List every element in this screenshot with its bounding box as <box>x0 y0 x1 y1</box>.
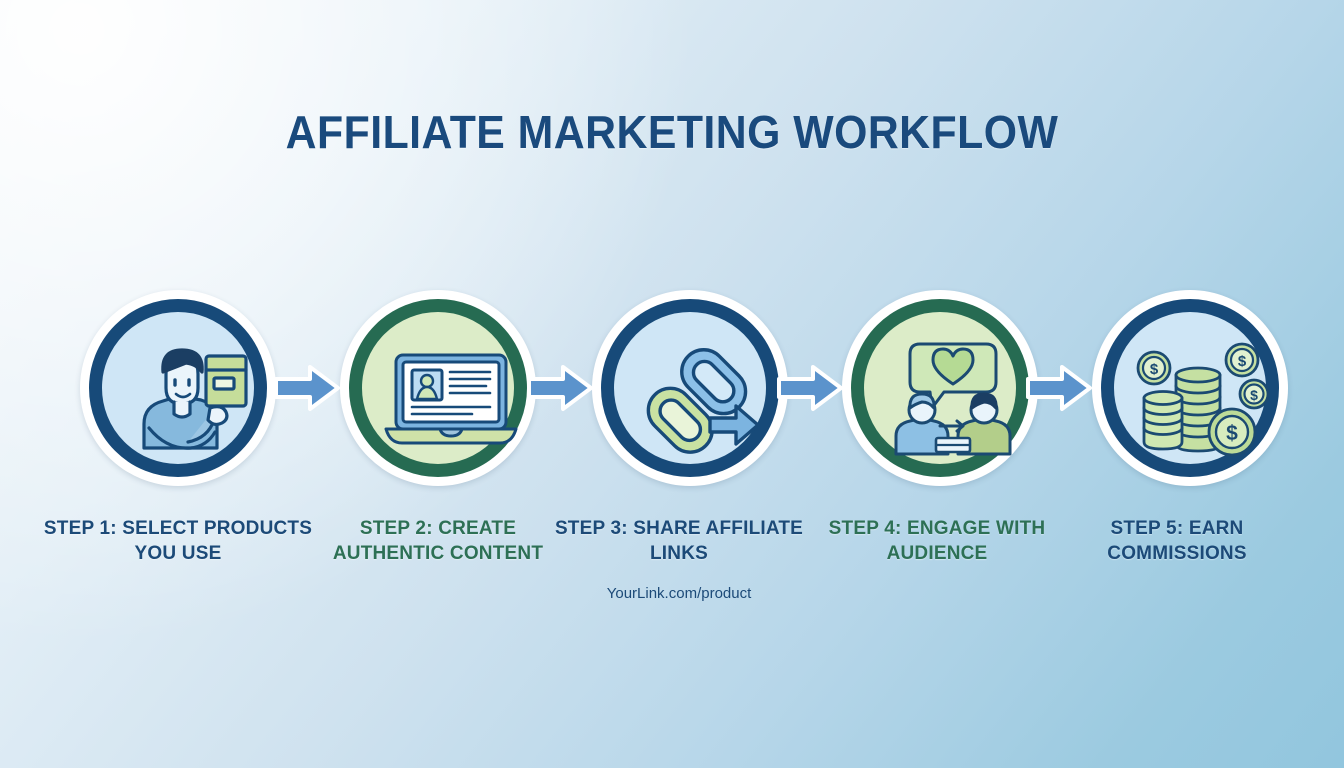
circle-ring-navy: $ $ $ $ <box>1101 299 1279 477</box>
arrow-right-icon <box>777 362 843 414</box>
svg-text:$: $ <box>1226 422 1238 445</box>
circle-ring-green <box>349 299 527 477</box>
svg-text:$: $ <box>1150 361 1159 378</box>
step-3-circle[interactable] <box>590 288 790 488</box>
step-5-circle[interactable]: $ $ $ $ <box>1090 288 1290 488</box>
step-1-circle[interactable] <box>78 288 278 488</box>
step-4-circle[interactable] <box>840 288 1040 488</box>
circle-ring-navy <box>89 299 267 477</box>
coin-stacks-dollar-icon: $ $ $ $ <box>1114 312 1292 490</box>
step-2-circle[interactable] <box>338 288 538 488</box>
page-title: AFFILIATE MARKETING WORKFLOW <box>47 104 1297 160</box>
arrow-right-icon <box>527 362 593 414</box>
step-3-label: STEP 3: SHARE AFFILIATE LINKS <box>543 516 815 566</box>
person-holding-product-icon <box>102 312 280 490</box>
arrow-right-icon <box>274 362 340 414</box>
two-people-heart-speech-bubble-icon <box>864 312 1042 490</box>
affiliate-link-url: YourLink.com/product <box>543 584 815 604</box>
circle-ring-navy <box>601 299 779 477</box>
svg-text:$: $ <box>1250 387 1258 403</box>
workflow-steps: $ $ $ $ <box>0 288 1344 488</box>
chain-link-arrow-icon <box>614 312 792 490</box>
arrow-right-icon <box>1026 362 1092 414</box>
svg-text:$: $ <box>1238 353 1247 370</box>
circle-ring-green <box>851 299 1029 477</box>
step-1-label: STEP 1: SELECT PRODUCTS YOU USE <box>42 516 314 566</box>
step-4-label: STEP 4: ENGAGE WITH AUDIENCE <box>801 516 1073 566</box>
step-2-label: STEP 2: CREATE AUTHENTIC CONTENT <box>302 516 574 566</box>
infographic-canvas: AFFILIATE MARKETING WORKFLOW <box>0 0 1344 768</box>
laptop-blog-post-icon <box>362 312 540 490</box>
step-5-label: STEP 5: EARN COMMISSIONS <box>1041 516 1313 566</box>
